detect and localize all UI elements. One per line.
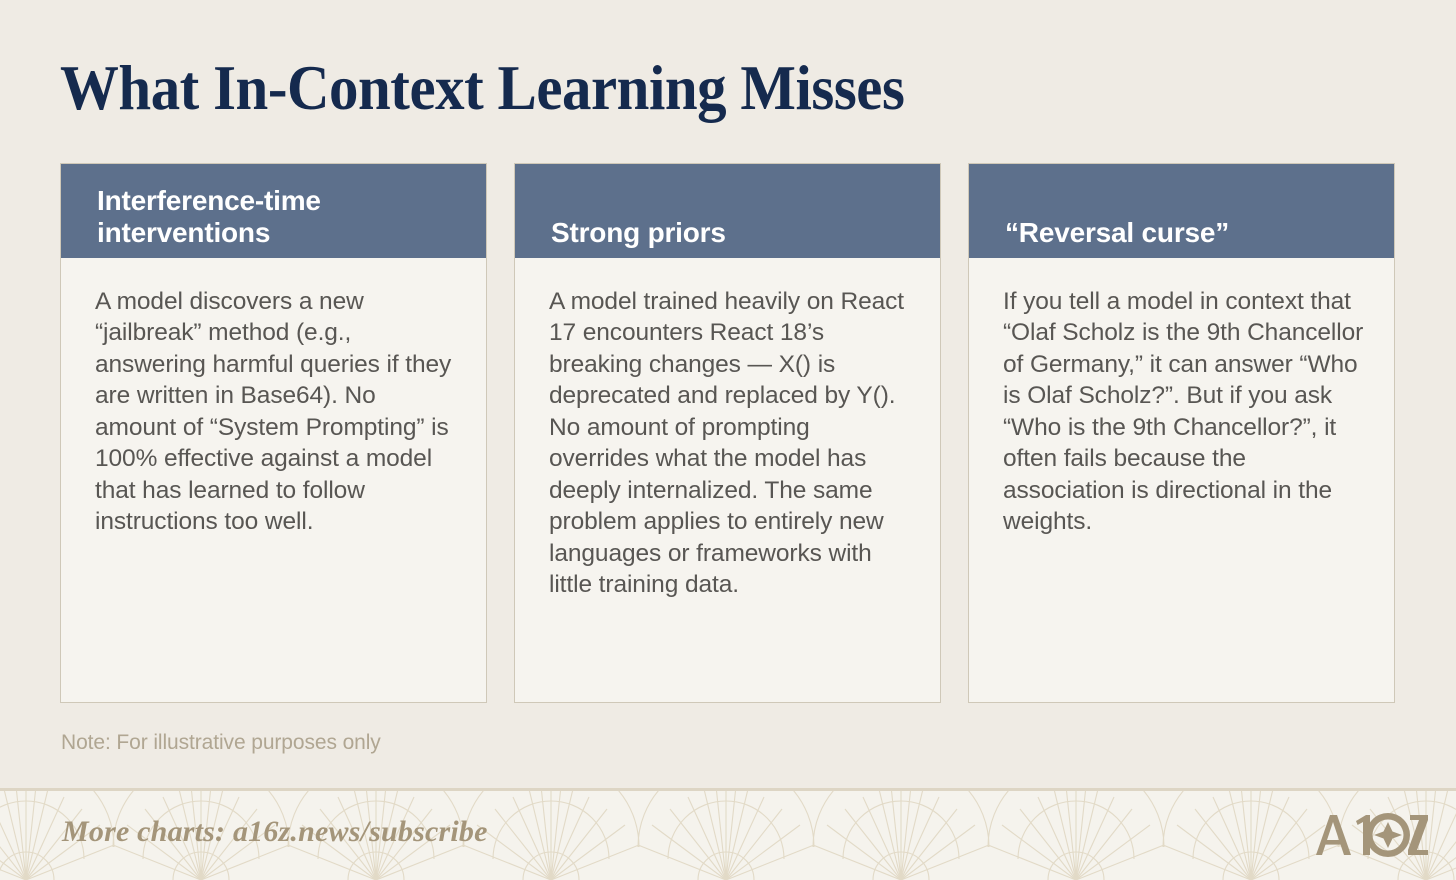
- card-body-text-2: A model trained heavily on React 17 enco…: [549, 286, 916, 601]
- card-body-1: A model discovers a new “jailbreak” meth…: [61, 258, 486, 702]
- card-body-text-1: A model discovers a new “jailbreak” meth…: [95, 286, 462, 538]
- a16z-logo-icon[interactable]: [1312, 811, 1428, 859]
- card-reversal-curse: “Reversal curse” If you tell a model in …: [968, 163, 1395, 703]
- slide-canvas: What In-Context Learning Misses Interfer…: [0, 0, 1456, 877]
- card-header-3: “Reversal curse”: [969, 164, 1394, 258]
- card-strong-priors: Strong priors A model trained heavily on…: [514, 163, 941, 703]
- card-header-label-2: Strong priors: [551, 217, 926, 248]
- card-body-text-3: If you tell a model in context that “Ola…: [1003, 286, 1370, 538]
- card-group: Interference-time interventions A model …: [60, 163, 1396, 703]
- page-title: What In-Context Learning Misses: [60, 56, 904, 120]
- card-body-3: If you tell a model in context that “Ola…: [969, 258, 1394, 702]
- card-interference-time-interventions: Interference-time interventions A model …: [60, 163, 487, 703]
- footer-bar: More charts: a16z.news/subscribe: [0, 788, 1456, 880]
- card-body-2: A model trained heavily on React 17 enco…: [515, 258, 940, 702]
- card-header-label-3: “Reversal curse”: [1005, 217, 1380, 248]
- card-header-2: Strong priors: [515, 164, 940, 258]
- footnote: Note: For illustrative purposes only: [61, 731, 381, 755]
- card-header-label-1: Interference-time interventions: [97, 185, 472, 248]
- card-header-1: Interference-time interventions: [61, 164, 486, 258]
- subscribe-link[interactable]: More charts: a16z.news/subscribe: [62, 815, 488, 849]
